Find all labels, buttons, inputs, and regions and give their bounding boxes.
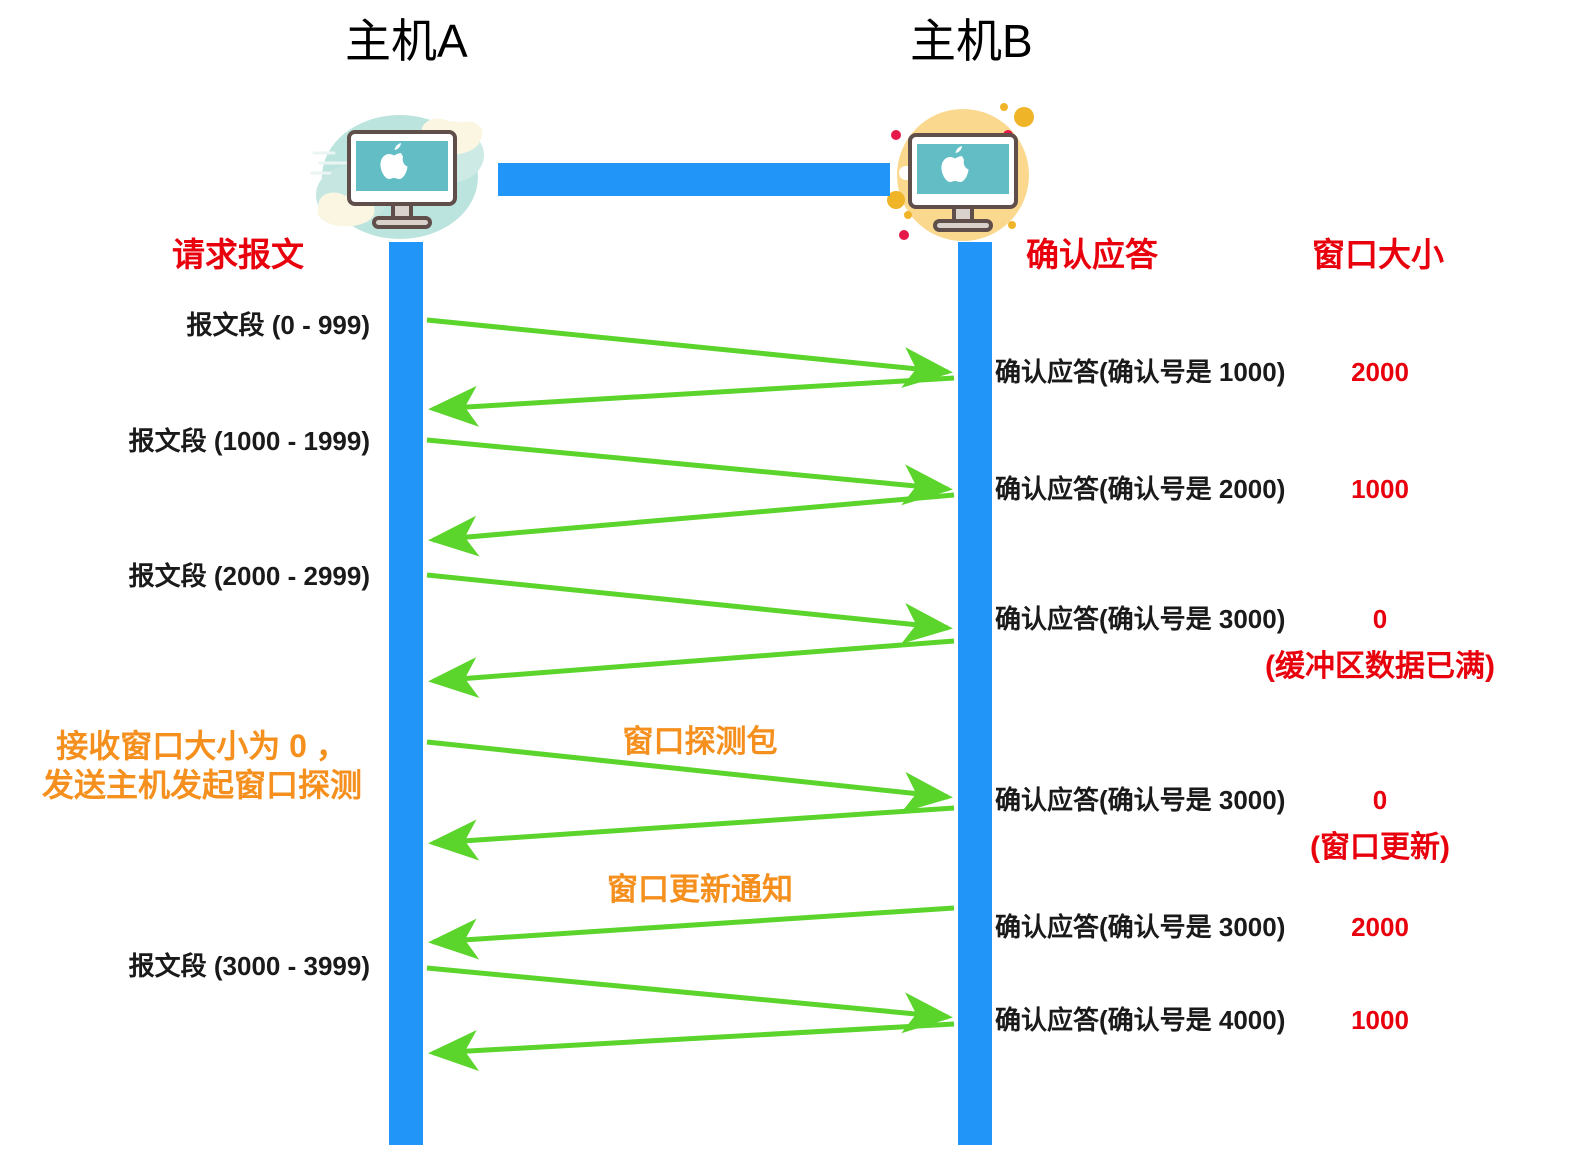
host-a-timeline-bar: [389, 242, 423, 1145]
ack-label-0: 确认应答(确认号是 1000): [995, 359, 1285, 385]
segment-label-1: 报文段 (1000 - 1999): [40, 428, 370, 454]
window-value-2: 0: [1290, 606, 1470, 632]
network-link-bar: [498, 163, 890, 196]
segment-label-2: 报文段 (2000 - 2999): [40, 563, 370, 589]
segment-label-0: 报文段 (0 - 999): [40, 312, 370, 338]
window-value-1: 1000: [1290, 476, 1470, 502]
host-b-title: 主机B: [910, 18, 1033, 64]
tcp-window-diagram: 主机A 主机B: [0, 0, 1586, 1170]
column-header-request: 请求报文: [172, 238, 304, 271]
host-b-timeline-bar: [958, 242, 992, 1145]
column-header-window: 窗口大小: [1312, 238, 1444, 271]
zero-window-annotation-line1: 接收窗口大小为 0 ，: [28, 727, 376, 766]
segment-label-3: 报文段 (3000 - 3999): [40, 953, 370, 979]
host-b-computer-icon: [878, 95, 1048, 245]
window-update-label: 窗口更新通知: [520, 874, 880, 905]
window-value-3: 0: [1290, 787, 1470, 813]
window-value-0: 2000: [1290, 359, 1470, 385]
zero-window-annotation: 接收窗口大小为 0 ， 发送主机发起窗口探测: [28, 727, 376, 805]
window-value-4: 2000: [1290, 914, 1470, 940]
window-value-5: 1000: [1290, 1007, 1470, 1033]
ack-label-1: 确认应答(确认号是 2000): [995, 476, 1285, 502]
ack-label-4: 确认应答(确认号是 3000): [995, 914, 1285, 940]
window-note-2: (缓冲区数据已满): [1192, 652, 1568, 682]
host-a-title: 主机A: [345, 18, 468, 64]
window-note-3: (窗口更新): [1192, 833, 1568, 863]
host-a-computer-icon: [300, 95, 500, 245]
ack-label-3: 确认应答(确认号是 3000): [995, 787, 1285, 813]
ack-label-5: 确认应答(确认号是 4000): [995, 1007, 1285, 1033]
zero-window-annotation-line2: 发送主机发起窗口探测: [28, 766, 376, 805]
probe-packet-label: 窗口探测包: [520, 726, 880, 757]
column-header-ack: 确认应答: [1026, 238, 1158, 271]
ack-label-2: 确认应答(确认号是 3000): [995, 606, 1285, 632]
